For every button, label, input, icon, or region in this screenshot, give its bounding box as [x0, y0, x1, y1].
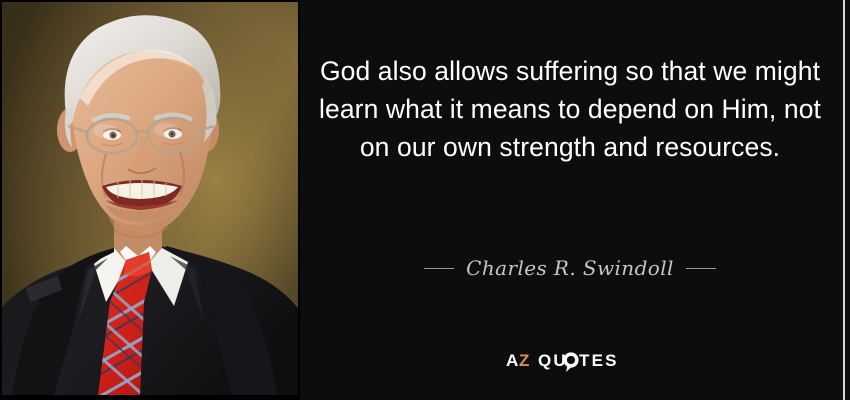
author-attribution: Charles R. Swindoll: [310, 256, 830, 280]
logo-text-tes: TES: [579, 351, 619, 370]
portrait-photo: [2, 2, 298, 395]
logo-letter-z: Z: [519, 351, 530, 370]
author-name[interactable]: Charles R. Swindoll: [466, 256, 674, 280]
azquotes-logo-mark: A Z QU TES: [506, 348, 634, 374]
portrait-frame: [0, 0, 300, 400]
azquotes-logo[interactable]: A Z QU TES: [310, 348, 830, 374]
logo-letter-a: A: [506, 351, 519, 370]
quote-text: God also allows suffering so that we mig…: [310, 52, 830, 166]
quote-card: God also allows suffering so that we mig…: [0, 0, 850, 400]
author-dash-left: [424, 268, 454, 269]
author-dash-right: [686, 268, 716, 269]
right-edge-margin: [845, 0, 850, 400]
portrait-illustration: [2, 2, 298, 395]
